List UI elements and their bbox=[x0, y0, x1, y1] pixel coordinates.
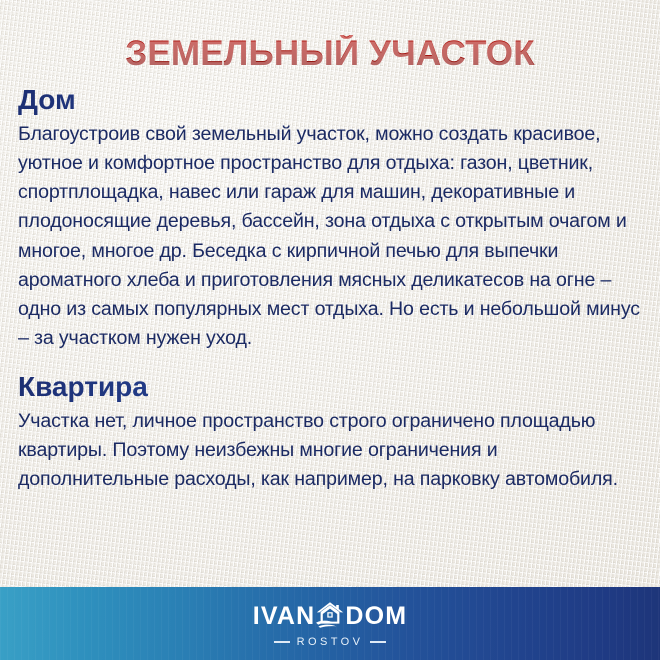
section-paragraph-dom: Благоустроив свой земельный участок, мож… bbox=[18, 120, 644, 354]
logo-dash-right bbox=[370, 641, 386, 643]
section-heading-kvartira: Квартира bbox=[18, 371, 646, 403]
footer-bar: IVAN bbox=[0, 587, 660, 660]
section-heading-dom: Дом bbox=[18, 84, 646, 116]
poster-root: ЗЕМЕЛЬНЫЙ УЧАСТОК Дом Благоустроив свой … bbox=[0, 0, 660, 660]
section-paragraph-kvartira: Участка нет, личное пространство строго … bbox=[18, 407, 644, 495]
house-icon bbox=[314, 600, 346, 630]
logo-subtitle: ROSTOV bbox=[274, 637, 387, 648]
logo-subtitle-text: ROSTOV bbox=[297, 637, 364, 648]
logo-wordmark: IVAN bbox=[253, 602, 408, 632]
logo-dash-left bbox=[274, 641, 290, 643]
poster-content: ЗЕМЕЛЬНЫЙ УЧАСТОК Дом Благоустроив свой … bbox=[0, 35, 660, 494]
logo-word-dom: DOM bbox=[345, 604, 407, 629]
page-title: ЗЕМЕЛЬНЫЙ УЧАСТОК bbox=[14, 35, 646, 74]
brand-logo[interactable]: IVAN bbox=[253, 602, 408, 648]
logo-word-ivan: IVAN bbox=[253, 604, 316, 629]
